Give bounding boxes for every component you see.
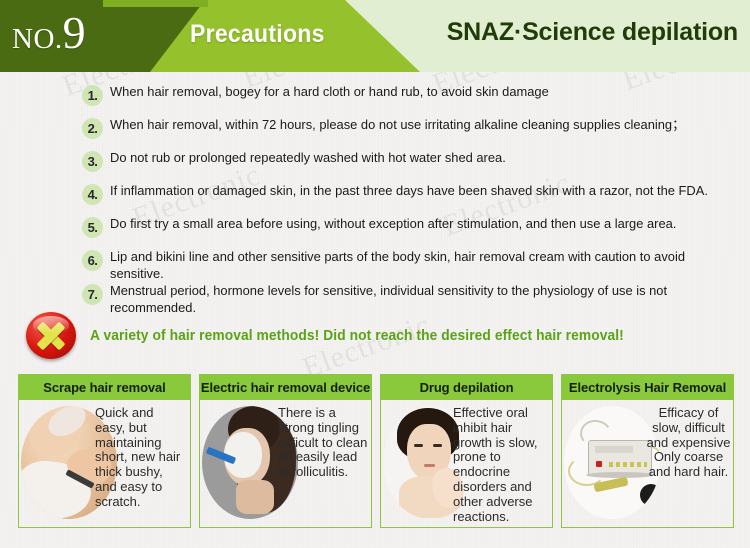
list-item-number: 5.: [82, 217, 103, 238]
list-item: 1. When hair removal, bogey for a hard c…: [82, 84, 742, 106]
section-number: NO.9: [12, 10, 86, 56]
list-item: 3. Do not rub or prolonged repeatedly wa…: [82, 150, 742, 172]
warning-banner: A variety of hair removal methods! Did n…: [26, 312, 652, 359]
card-body: Quick and easy, but maintaining short, n…: [19, 400, 190, 527]
section-number-value: 9: [63, 7, 86, 58]
list-item-text: Lip and bikini line and other sensitive …: [110, 249, 723, 282]
card-text: Efficacy of slow, difficult and expensiv…: [646, 406, 731, 480]
list-item-text: When hair removal, bogey for a hard clot…: [110, 84, 723, 101]
method-cards: Scrape hair removal Quick and easy, but …: [18, 374, 734, 528]
red-x-circle-icon: [26, 312, 76, 359]
warning-text: A variety of hair removal methods! Did n…: [90, 328, 624, 344]
list-item-text: When hair removal, within 72 hours, plea…: [110, 117, 723, 134]
card-title: Electrolysis Hair Removal: [562, 375, 733, 400]
card-body: Efficacy of slow, difficult and expensiv…: [562, 400, 733, 527]
list-item-number: 4.: [82, 184, 103, 205]
list-item: 4. If inflammation or damaged skin, in t…: [82, 183, 742, 205]
list-item-number: 7.: [82, 284, 103, 305]
list-item-text: If inflammation or damaged skin, in the …: [110, 183, 723, 200]
method-card: Scrape hair removal Quick and easy, but …: [18, 374, 191, 528]
list-item-number: 1.: [82, 85, 103, 106]
card-text: Effective oral inhibit hair growth is sl…: [453, 406, 549, 525]
list-item: 2. When hair removal, within 72 hours, p…: [82, 117, 742, 139]
header-top-tab: [103, 0, 208, 7]
card-body: Effective oral inhibit hair growth is sl…: [381, 400, 552, 527]
precautions-list: 1. When hair removal, bogey for a hard c…: [82, 84, 742, 317]
icon-gloss: [33, 316, 69, 334]
method-card: Electrolysis Hair Removal Efficacy of sl…: [561, 374, 734, 528]
list-item: 6. Lip and bikini line and other sensiti…: [82, 249, 742, 282]
method-card: Electric hair removal device There is a …: [199, 374, 372, 528]
card-title: Scrape hair removal: [19, 375, 190, 400]
card-text: Quick and easy, but maintaining short, n…: [95, 406, 187, 510]
list-item-text: Do not rub or prolonged repeatedly washe…: [110, 150, 723, 167]
card-title: Electric hair removal device: [200, 375, 371, 400]
card-title: Drug depilation: [381, 375, 552, 400]
brand-title: SNAZ·Science depilation: [447, 18, 738, 47]
list-item-text: Do first try a small area before using, …: [110, 216, 723, 233]
list-item: 5. Do first try a small area before usin…: [82, 216, 742, 238]
card-body: There is a strong tingling difficult to …: [200, 400, 371, 527]
list-item-number: 2.: [82, 118, 103, 139]
section-number-prefix: NO.: [12, 23, 63, 55]
list-item-number: 6.: [82, 250, 103, 271]
section-title: Precautions: [190, 20, 325, 49]
card-text: There is a strong tingling difficult to …: [278, 406, 368, 480]
method-card: Drug depilation Effective oral inhibit h…: [380, 374, 553, 528]
list-item-number: 3.: [82, 151, 103, 172]
page-header: NO.9 Precautions SNAZ·Science depilation: [0, 0, 750, 72]
